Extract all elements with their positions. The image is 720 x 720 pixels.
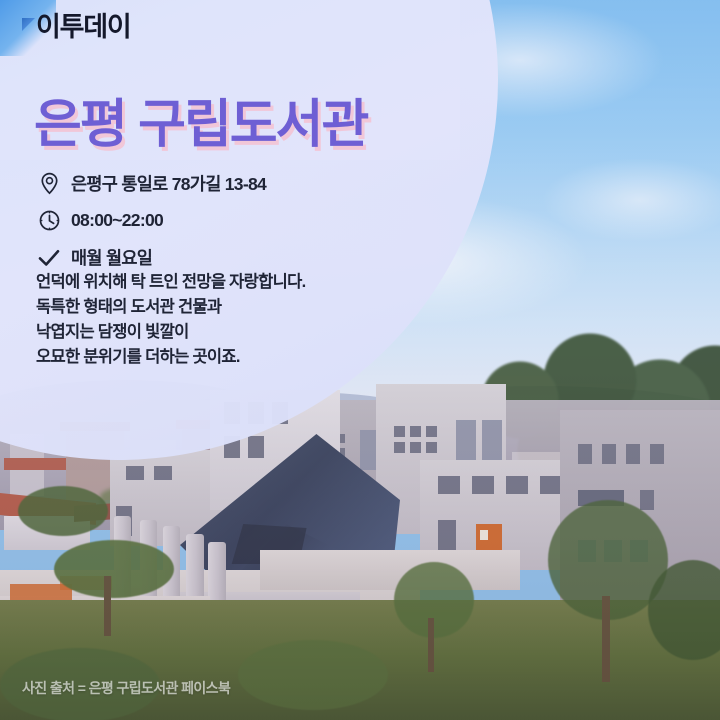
info-label-address: 은평구 통일로 78가길 13-84 xyxy=(71,171,266,196)
page-title: 은평 구립도서관 xyxy=(34,82,367,157)
description-line: 낙엽지는 담쟁이 빛깔이 xyxy=(36,320,305,345)
photo-credit: 사진 출처 = 은평 구립도서관 페이스북 xyxy=(22,678,230,698)
description-block: 언덕에 위치해 탁 트인 전망을 자랑합니다. 독특한 형태의 도서관 건물과 … xyxy=(36,270,305,370)
info-row-hours: 08:00~22:00 xyxy=(36,205,266,236)
info-list: 은평구 통일로 78가길 13-84 08:00~22:00 xyxy=(36,168,266,279)
check-icon xyxy=(36,249,62,267)
info-label-hours: 08:00~22:00 xyxy=(71,210,163,231)
description-line: 독특한 형태의 도서관 건물과 xyxy=(36,295,305,320)
promo-card: 이투데이 은평 구립도서관 은평구 통일로 78가길 13-84 xyxy=(0,0,720,720)
brand-logo[interactable]: 이투데이 xyxy=(22,14,131,41)
card-content: 이투데이 은평 구립도서관 은평구 통일로 78가길 13-84 xyxy=(0,0,720,720)
description-line: 언덕에 위치해 탁 트인 전망을 자랑합니다. xyxy=(36,270,305,295)
info-label-closed-day: 매월 월요일 xyxy=(71,245,152,270)
info-row-closed-day: 매월 월요일 xyxy=(36,242,266,273)
info-row-address: 은평구 통일로 78가길 13-84 xyxy=(36,168,266,199)
clock-icon xyxy=(36,210,62,231)
triangle-mark-icon xyxy=(22,18,35,31)
description-line: 오묘한 분위기를 더하는 곳이죠. xyxy=(36,345,305,370)
brand-logo-text: 이투데이 xyxy=(36,14,131,41)
map-pin-icon xyxy=(36,172,62,195)
